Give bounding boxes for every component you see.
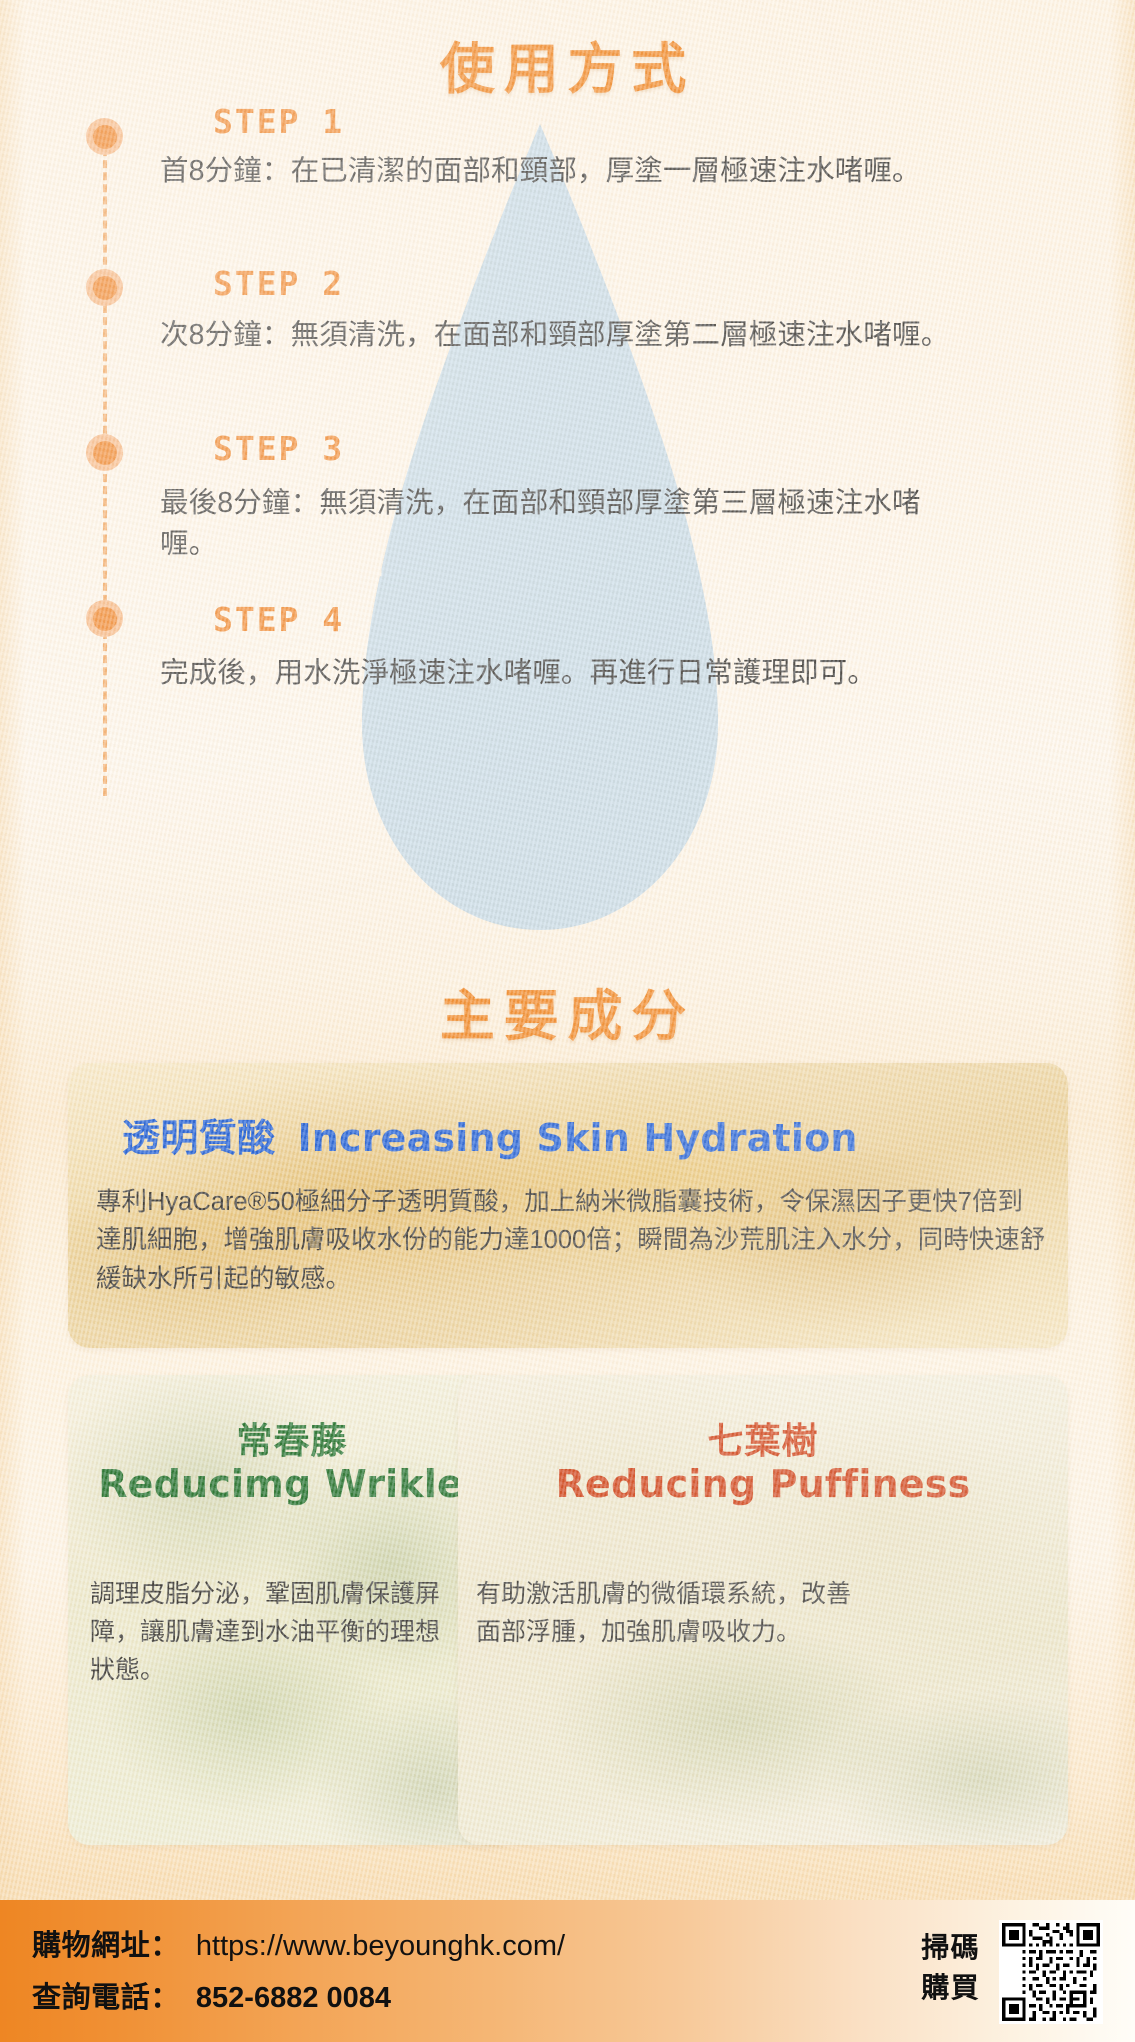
step-label: STEP 1 [213,102,344,141]
step-label: STEP 4 [213,600,344,639]
footer-shop-row: 購物網址： https://www.beyounghk.com/ [32,1922,565,1964]
poster-infographic: 使用方式 STEP 1 首8分鐘：在已清潔的面部和頸部，厚塗一層極速注水啫喱。 … [0,0,1135,2042]
step-description: 最後8分鐘：無須清洗，在面部和頸部厚塗第三層極速注水啫喱。 [160,483,960,565]
footer-phone-row: 查詢電話： 852-6882 0084 [32,1974,565,2016]
step-description: 首8分鐘：在已清潔的面部和頸部，厚塗一層極速注水啫喱。 [160,151,960,192]
step-description: 次8分鐘：無須清洗，在面部和頸部厚塗第二層極速注水啫喱。 [160,315,960,356]
ingredient-name-en: Reducing Puffiness [458,1461,1068,1507]
ingredient-name-en: Reducimg Wrikles [68,1461,516,1507]
ingredient-name-cn: 透明質酸 [122,1118,276,1160]
footer-contact-lines: 購物網址： https://www.beyounghk.com/ 查詢電話： 8… [32,1922,565,2026]
shop-url-value[interactable]: https://www.beyounghk.com/ [196,1930,565,1963]
ingredient-name-cn: 七葉樹 [458,1421,1068,1461]
phone-label: 查詢電話： [32,1974,180,2016]
ingredient-title-ivy: 常春藤 Reducimg Wrikles [68,1421,516,1508]
timeline-dot-icon [86,434,123,471]
contact-footer: 購物網址： https://www.beyounghk.com/ 查詢電話： 8… [0,1900,1135,2042]
step-label: STEP 3 [213,429,344,468]
timeline-dot-icon [86,118,123,155]
ingredient-description-hyaluronic: 專利HyaCare®50極細分子透明質酸，加上納米微脂囊技術，令保濕因子更快7倍… [96,1183,1046,1298]
scan-label-line1: 掃碼 [921,1928,980,1968]
scan-to-buy-label: 掃碼 購買 [921,1928,980,2008]
ingredients-section-title: 主要成分 [0,971,1135,1051]
ingredient-name-cn: 常春藤 [68,1421,516,1461]
ingredient-card-hyaluronic: 透明質酸 Increasing Skin Hydration 專利HyaCare… [68,1063,1068,1348]
ingredient-name-en: Increasing Skin Hydration [297,1116,857,1160]
qr-code-icon[interactable] [999,1920,1103,2024]
usage-section-title: 使用方式 [0,24,1135,104]
timeline-dot-icon [86,600,123,637]
ingredient-card-ivy: 常春藤 Reducimg Wrikles 調理皮脂分泌，鞏固肌膚保護屏障，讓肌膚… [68,1375,516,1845]
ingredient-card-horse-chestnut: 七葉樹 Reducing Puffiness 有助激活肌膚的微循環系統，改善面部… [458,1375,1068,1845]
ingredient-description-horse-chestnut: 有助激活肌膚的微循環系統，改善面部浮腫，加強肌膚吸收力。 [476,1575,856,1651]
step-description: 完成後，用水洗淨極速注水啫喱。再進行日常護理即可。 [160,653,960,694]
ingredient-description-ivy: 調理皮脂分泌，鞏固肌膚保護屏障，讓肌膚達到水油平衡的理想狀態。 [90,1575,440,1689]
scan-label-line2: 購買 [921,1968,980,2008]
timeline-dot-icon [86,269,123,306]
ingredient-title-hyaluronic: 透明質酸 Increasing Skin Hydration [122,1107,858,1162]
ingredient-title-horse-chestnut: 七葉樹 Reducing Puffiness [458,1421,1068,1508]
phone-value[interactable]: 852-6882 0084 [196,1982,391,2015]
step-label: STEP 2 [213,264,344,303]
shop-url-label: 購物網址： [32,1922,180,1964]
